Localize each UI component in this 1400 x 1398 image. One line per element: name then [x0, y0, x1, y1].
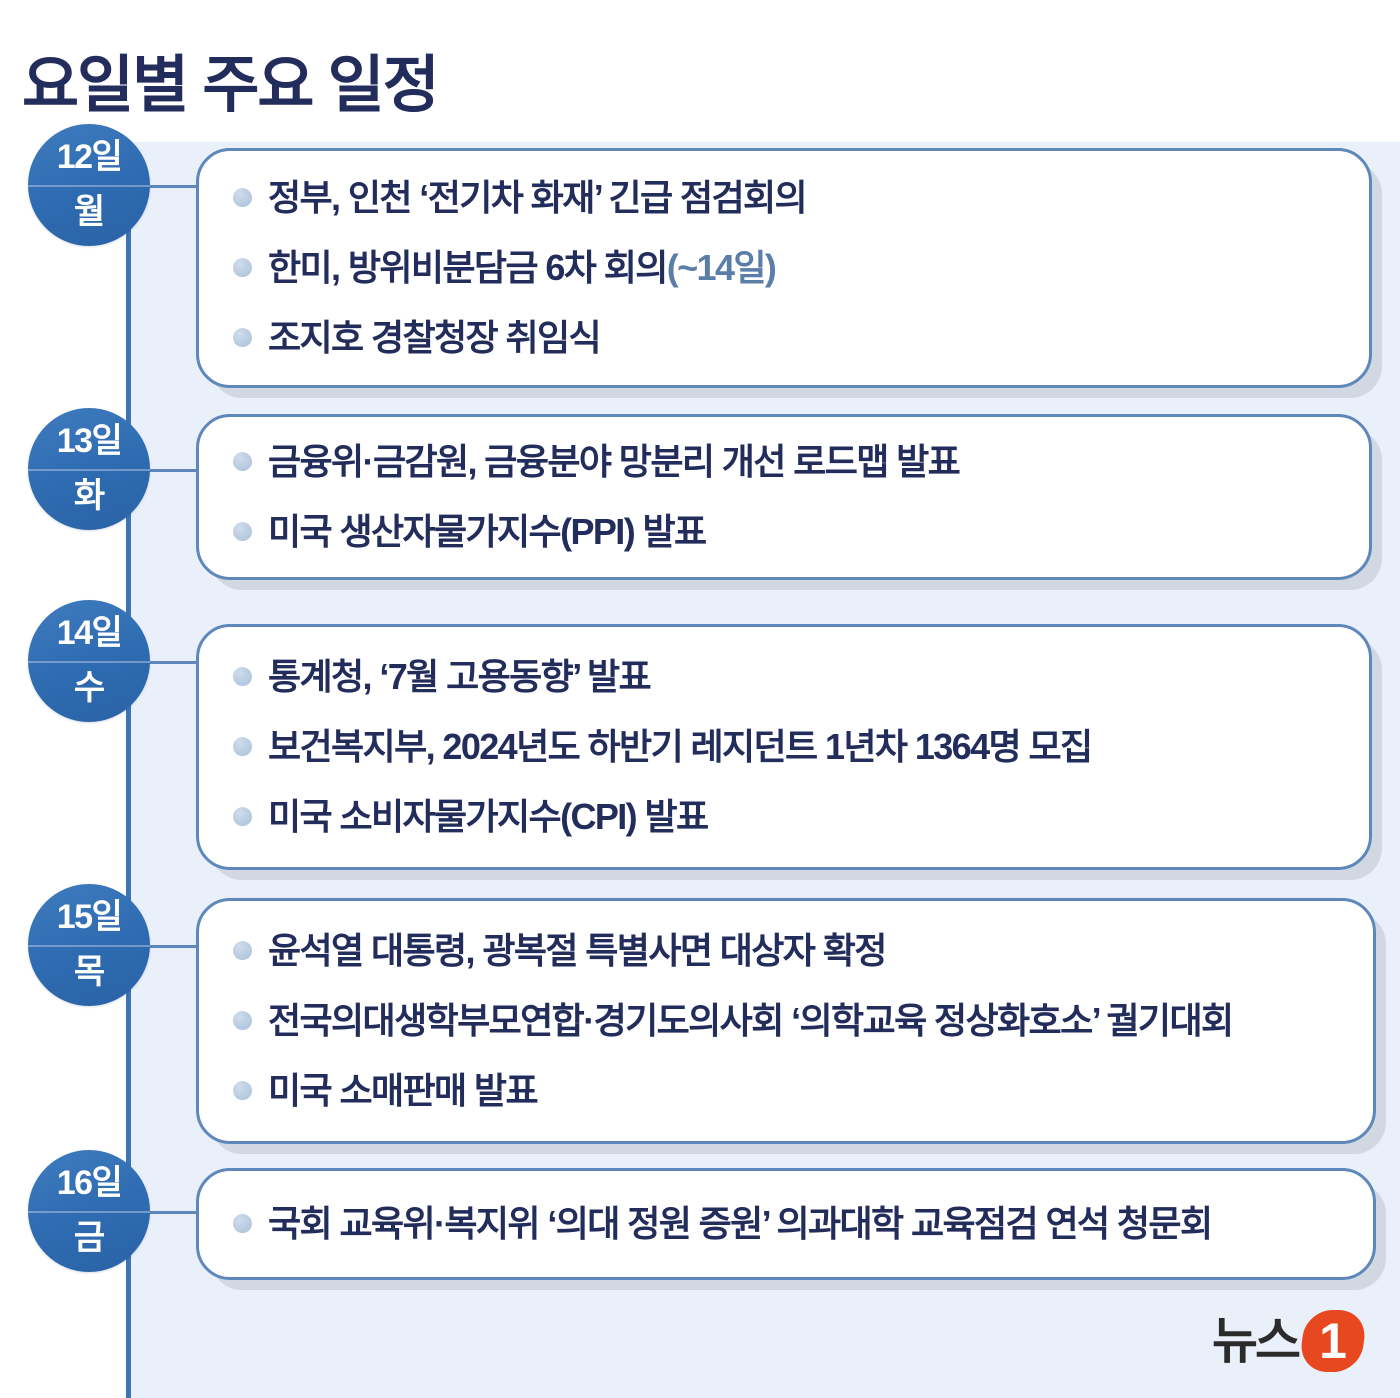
list-item: 미국 소비자물가지수(CPI) 발표: [233, 795, 1347, 839]
list-item: 전국의대생학부모연합·경기도의사회 ‘의학교육 정상화호소’ 궐기대회: [233, 999, 1351, 1043]
bullet-dot-icon: [233, 941, 252, 960]
bullet-dot-icon: [233, 188, 252, 207]
list-item-main: 미국 소비자물가지수(CPI) 발표: [268, 796, 708, 837]
day-badge-weekday: 금: [28, 1209, 150, 1267]
day-badge-date: 12일: [28, 129, 150, 185]
day-badge-date: 15일: [28, 889, 150, 945]
brand-logo-mark-icon: 1: [1298, 1310, 1369, 1372]
day-badge-weekday: 목: [28, 943, 150, 1001]
list-item-text: 통계청, ‘7월 고용동향’ 발표: [268, 655, 650, 699]
bullet-dot-icon: [233, 807, 252, 826]
list-item: 금융위·금감원, 금융분야 망분리 개선 로드맵 발표: [233, 440, 1347, 484]
list-item-text: 미국 생산자물가지수(PPI) 발표: [268, 510, 706, 554]
list-item: 조지호 경찰청장 취임식: [233, 316, 1347, 360]
day-badge-date: 16일: [28, 1155, 150, 1211]
schedule-list: 국회 교육위·복지위 ‘의대 정원 증원’ 의과대학 교육점검 연석 청문회: [233, 1202, 1351, 1246]
day-badge-weekday: 수: [28, 659, 150, 717]
list-item-text: 정부, 인천 ‘전기차 화재’ 긴급 점검회의: [268, 176, 806, 220]
page-title: 요일별 주요 일정: [22, 50, 438, 121]
list-item: 한미, 방위비분담금 6차 회의(~14일): [233, 246, 1347, 290]
schedule-list: 정부, 인천 ‘전기차 화재’ 긴급 점검회의한미, 방위비분담금 6차 회의(…: [233, 176, 1347, 360]
list-item-main: 미국 소매판매 발표: [268, 1070, 537, 1111]
day-badge-date: 13일: [28, 413, 150, 469]
day-card: 금융위·금감원, 금융분야 망분리 개선 로드맵 발표미국 생산자물가지수(PP…: [196, 414, 1372, 580]
list-item-text: 조지호 경찰청장 취임식: [268, 316, 600, 360]
list-item-text: 미국 소비자물가지수(CPI) 발표: [268, 795, 708, 839]
list-item-main: 보건복지부, 2024년도 하반기 레지던트 1년차 1364명 모집: [268, 726, 1092, 767]
list-item: 정부, 인천 ‘전기차 화재’ 긴급 점검회의: [233, 176, 1347, 220]
list-item-main: 조지호 경찰청장 취임식: [268, 317, 600, 358]
day-card: 윤석열 대통령, 광복절 특별사면 대상자 확정전국의대생학부모연합·경기도의사…: [196, 898, 1376, 1144]
list-item-text: 한미, 방위비분담금 6차 회의(~14일): [268, 246, 775, 290]
day-badge: 13일화: [28, 408, 150, 530]
list-item-text: 전국의대생학부모연합·경기도의사회 ‘의학교육 정상화호소’ 궐기대회: [268, 999, 1233, 1043]
list-item-text: 보건복지부, 2024년도 하반기 레지던트 1년차 1364명 모집: [268, 725, 1092, 769]
bullet-dot-icon: [233, 1081, 252, 1100]
list-item-main: 한미, 방위비분담금 6차 회의: [268, 247, 667, 288]
bullet-dot-icon: [233, 452, 252, 471]
day-badge: 14일수: [28, 600, 150, 722]
list-item-main: 윤석열 대통령, 광복절 특별사면 대상자 확정: [268, 930, 886, 971]
list-item-note: (~14일): [667, 247, 776, 288]
brand-logo: 뉴스 1: [1212, 1310, 1364, 1372]
bullet-dot-icon: [233, 258, 252, 277]
list-item-text: 금융위·금감원, 금융분야 망분리 개선 로드맵 발표: [268, 440, 959, 484]
schedule-list: 금융위·금감원, 금융분야 망분리 개선 로드맵 발표미국 생산자물가지수(PP…: [233, 440, 1347, 554]
infographic-page: 요일별 주요 일정 12일월정부, 인천 ‘전기차 화재’ 긴급 점검회의한미,…: [0, 0, 1400, 1398]
list-item-main: 국회 교육위·복지위 ‘의대 정원 증원’ 의과대학 교육점검 연석 청문회: [268, 1203, 1211, 1244]
day-badge-date: 14일: [28, 605, 150, 661]
list-item-text: 미국 소매판매 발표: [268, 1069, 537, 1113]
list-item-main: 정부, 인천 ‘전기차 화재’ 긴급 점검회의: [268, 177, 806, 218]
list-item: 미국 생산자물가지수(PPI) 발표: [233, 510, 1347, 554]
bullet-dot-icon: [233, 1011, 252, 1030]
list-item: 국회 교육위·복지위 ‘의대 정원 증원’ 의과대학 교육점검 연석 청문회: [233, 1202, 1351, 1246]
list-item-main: 미국 생산자물가지수(PPI) 발표: [268, 511, 706, 552]
list-item: 윤석열 대통령, 광복절 특별사면 대상자 확정: [233, 929, 1351, 973]
list-item-text: 국회 교육위·복지위 ‘의대 정원 증원’ 의과대학 교육점검 연석 청문회: [268, 1202, 1211, 1246]
list-item-main: 통계청, ‘7월 고용동향’ 발표: [268, 656, 650, 697]
list-item-main: 금융위·금감원, 금융분야 망분리 개선 로드맵 발표: [268, 441, 959, 482]
schedule-list: 윤석열 대통령, 광복절 특별사면 대상자 확정전국의대생학부모연합·경기도의사…: [233, 929, 1351, 1113]
bullet-dot-icon: [233, 1214, 252, 1233]
brand-logo-one: 1: [1302, 1310, 1364, 1372]
day-card: 정부, 인천 ‘전기차 화재’ 긴급 점검회의한미, 방위비분담금 6차 회의(…: [196, 148, 1372, 388]
list-item-main: 전국의대생학부모연합·경기도의사회 ‘의학교육 정상화호소’ 궐기대회: [268, 1000, 1233, 1041]
brand-logo-text: 뉴스: [1212, 1316, 1298, 1366]
list-item-text: 윤석열 대통령, 광복절 특별사면 대상자 확정: [268, 929, 886, 973]
bullet-dot-icon: [233, 737, 252, 756]
bullet-dot-icon: [233, 667, 252, 686]
bullet-dot-icon: [233, 328, 252, 347]
day-badge: 12일월: [28, 124, 150, 246]
list-item: 보건복지부, 2024년도 하반기 레지던트 1년차 1364명 모집: [233, 725, 1347, 769]
day-card: 통계청, ‘7월 고용동향’ 발표보건복지부, 2024년도 하반기 레지던트 …: [196, 624, 1372, 870]
day-badge-weekday: 화: [28, 467, 150, 525]
list-item: 미국 소매판매 발표: [233, 1069, 1351, 1113]
day-badge-weekday: 월: [28, 183, 150, 241]
day-badge: 15일목: [28, 884, 150, 1006]
day-card: 국회 교육위·복지위 ‘의대 정원 증원’ 의과대학 교육점검 연석 청문회: [196, 1168, 1376, 1280]
day-badge: 16일금: [28, 1150, 150, 1272]
list-item: 통계청, ‘7월 고용동향’ 발표: [233, 655, 1347, 699]
schedule-list: 통계청, ‘7월 고용동향’ 발표보건복지부, 2024년도 하반기 레지던트 …: [233, 655, 1347, 839]
bullet-dot-icon: [233, 522, 252, 541]
